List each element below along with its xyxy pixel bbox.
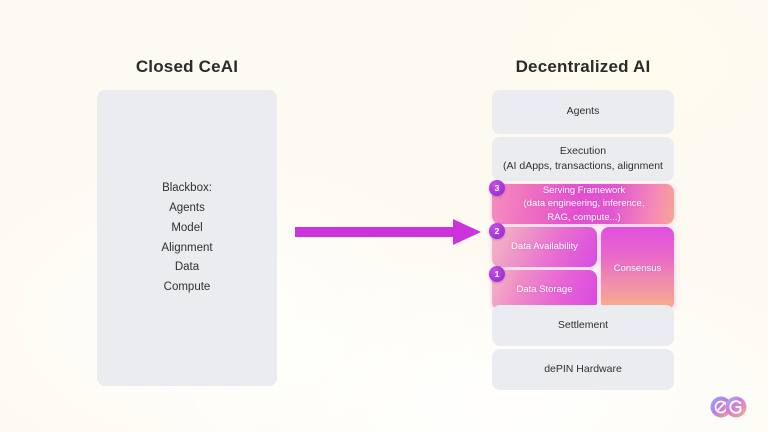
right-arrow-icon [295,219,481,245]
layer-sublabel: (data engineering, inference, RAG, compu… [512,197,656,224]
layer-label: Consensus [614,262,662,275]
layer-data-storage: Data Storage [492,270,597,310]
layer-sublabel: (AI dApps, transactions, alignment [503,159,663,174]
list-item: Compute [164,279,211,296]
layer-depin-hardware: dePIN Hardware [492,349,674,390]
list-item: Model [171,220,202,237]
left-column-title: Closed CeAI [97,57,277,77]
layer-serving-framework: Serving Framework (data engineering, inf… [492,184,674,224]
layer-label: Agents [567,104,600,119]
layer-label: Serving Framework [512,184,656,197]
layer-label: Settlement [558,318,608,333]
layer-agents: Agents [492,90,674,134]
brand-logos [710,396,756,418]
step-badge-3: 3 [489,180,505,196]
right-column-title: Decentralized AI [492,57,674,77]
diagram-stage: Closed CeAI Blackbox: Agents Model Align… [0,0,768,432]
layer-label: dePIN Hardware [544,362,622,377]
list-item: Blackbox: [162,180,212,197]
step-badge-1: 1 [489,266,505,282]
layer-execution: Execution (AI dApps, transactions, align… [492,137,674,181]
list-item: Data [175,259,199,276]
layer-label: Execution [503,144,663,159]
closed-ceai-list: Blackbox: Agents Model Alignment Data Co… [161,180,212,295]
layer-label: Data Availability [511,240,578,253]
layer-label: Data Storage [517,283,573,296]
layer-data-availability: Data Availability [492,227,597,267]
layer-settlement: Settlement [492,305,674,346]
g-logo-icon [725,396,747,418]
list-item: Alignment [161,240,212,257]
list-item: Agents [169,200,205,217]
layer-consensus: Consensus [601,227,674,310]
closed-ceai-panel: Blackbox: Agents Model Alignment Data Co… [97,90,277,386]
decentralized-ai-stack: Agents Execution (AI dApps, transactions… [492,90,674,386]
step-badge-2: 2 [489,223,505,239]
